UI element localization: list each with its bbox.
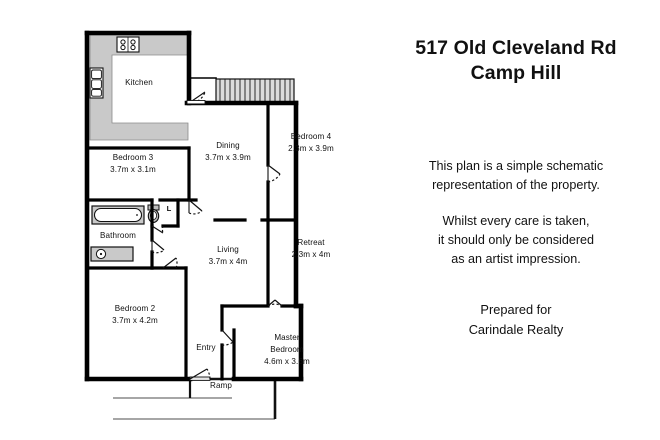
ramp-walls: [88, 379, 275, 419]
label-entry: Entry: [196, 343, 216, 352]
floorplan-drawing: Kitchen Bedroom 3 3.7m x 3.1m Dining 3.7…: [0, 0, 370, 440]
info-panel: 517 Old Cleveland Rd Camp Hill This plan…: [372, 0, 660, 440]
floorplan-svg: Kitchen Bedroom 3 3.7m x 3.1m Dining 3.7…: [0, 0, 370, 440]
label-bedroom3: Bedroom 3: [113, 153, 154, 162]
prepared-for-label: Prepared for: [372, 300, 660, 320]
dim-bedroom4: 2.3m x 3.9m: [288, 144, 334, 153]
bathtub-icon: [92, 206, 144, 224]
disclaimer-paragraph-2: Whilst every care is taken, it should on…: [372, 212, 660, 269]
property-address: 517 Old Cleveland Rd Camp Hill: [372, 36, 660, 86]
staircase-icon: [216, 79, 294, 102]
label-bathroom: Bathroom: [100, 231, 136, 240]
floorplan-page: Kitchen Bedroom 3 3.7m x 3.1m Dining 3.7…: [0, 0, 660, 440]
disclaimer-1-line-2: representation of the property.: [372, 176, 660, 195]
agency-name: Carindale Realty: [372, 320, 660, 340]
ramp-guidelines: [113, 398, 275, 419]
dim-bedroom3: 3.7m x 3.1m: [110, 165, 156, 174]
dim-bedroom2: 3.7m x 4.2m: [112, 316, 158, 325]
label-laundry: L: [167, 204, 172, 213]
label-master: Master: [274, 333, 300, 342]
dim-living: 3.7m x 4m: [209, 257, 248, 266]
disclaimer-1-line-1: This plan is a simple schematic: [372, 157, 660, 176]
label-living: Living: [217, 245, 239, 254]
label-ramp: Ramp: [210, 381, 232, 390]
disclaimer-2-line-2: it should only be considered: [372, 231, 660, 250]
address-line-1: 517 Old Cleveland Rd: [372, 36, 660, 61]
sink-icon: [90, 68, 103, 98]
address-line-2: Camp Hill: [372, 61, 660, 86]
label-bedroom4: Bedroom 4: [291, 132, 332, 141]
disclaimer-2-line-3: as an artist impression.: [372, 250, 660, 269]
disclaimer-paragraph-1: This plan is a simple schematic represen…: [372, 157, 660, 195]
dim-master-bedroom: 4.6m x 3.6m: [264, 357, 310, 366]
label-kitchen: Kitchen: [125, 78, 153, 87]
label-dining: Dining: [216, 141, 240, 150]
vanity-icon: [91, 247, 133, 261]
disclaimer-2-line-1: Whilst every care is taken,: [372, 212, 660, 231]
label-retreat: Retreat: [297, 238, 325, 247]
cooktop-icon: [117, 37, 139, 52]
label-bedroom2: Bedroom 2: [115, 304, 156, 313]
dim-dining: 3.7m x 3.9m: [205, 153, 251, 162]
dim-retreat: 2.3m x 4m: [292, 250, 331, 259]
label-master-bedroom: Bedroom: [270, 345, 304, 354]
prepared-for-block: Prepared for Carindale Realty: [372, 300, 660, 340]
